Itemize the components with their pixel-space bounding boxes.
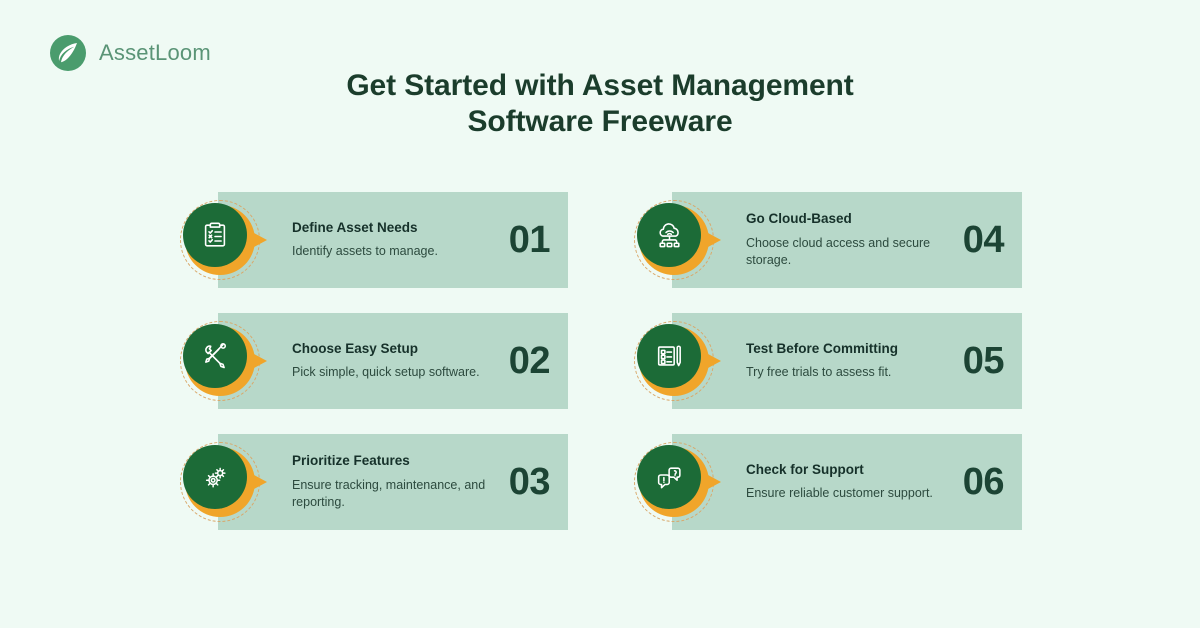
step-text-block: Define Asset Needs Identify assets to ma… [292,192,492,288]
step-description: Pick simple, quick setup software. [292,364,492,381]
step-number: 01 [509,192,550,288]
form-pencil-icon [637,324,701,388]
step-title: Choose Easy Setup [292,341,492,358]
step-card-06[interactable]: Check for Support Ensure reliable custom… [634,434,1022,530]
cloud-network-icon [637,203,701,267]
step-number: 03 [509,434,550,530]
page-title-line-1: Get Started with Asset Management [0,68,1200,104]
step-description: Try free trials to assess fit. [746,364,946,381]
leaf-circle-logo-icon [48,33,88,73]
step-description: Choose cloud access and secure storage. [746,235,946,269]
step-title: Define Asset Needs [292,220,492,237]
page-title: Get Started with Asset Management Softwa… [0,68,1200,139]
step-text-block: Check for Support Ensure reliable custom… [746,434,946,530]
step-card-01[interactable]: Define Asset Needs Identify assets to ma… [180,192,568,288]
step-number: 06 [963,434,1004,530]
step-card-03[interactable]: Prioritize Features Ensure tracking, mai… [180,434,568,530]
step-description: Identify assets to manage. [292,243,492,260]
step-text-block: Test Before Committing Try free trials t… [746,313,946,409]
step-title: Test Before Committing [746,341,946,358]
brand-name: AssetLoom [99,40,211,66]
step-title: Prioritize Features [292,453,492,470]
step-text-block: Go Cloud-Based Choose cloud access and s… [746,192,946,288]
step-card-05[interactable]: Test Before Committing Try free trials t… [634,313,1022,409]
step-number: 04 [963,192,1004,288]
step-description: Ensure tracking, maintenance, and report… [292,477,492,511]
clipboard-checklist-icon [183,203,247,267]
gears-icon [183,445,247,509]
wrench-screwdriver-icon [183,324,247,388]
page-title-line-2: Software Freeware [0,104,1200,140]
chat-bubbles-help-icon [637,445,701,509]
step-card-02[interactable]: Choose Easy Setup Pick simple, quick set… [180,313,568,409]
step-text-block: Choose Easy Setup Pick simple, quick set… [292,313,492,409]
step-text-block: Prioritize Features Ensure tracking, mai… [292,434,492,530]
step-title: Go Cloud-Based [746,211,946,228]
step-title: Check for Support [746,462,946,479]
step-number: 02 [509,313,550,409]
steps-grid: Define Asset Needs Identify assets to ma… [180,192,1022,530]
step-number: 05 [963,313,1004,409]
step-card-04[interactable]: Go Cloud-Based Choose cloud access and s… [634,192,1022,288]
step-description: Ensure reliable customer support. [746,485,946,502]
brand-logo: AssetLoom [48,33,211,73]
